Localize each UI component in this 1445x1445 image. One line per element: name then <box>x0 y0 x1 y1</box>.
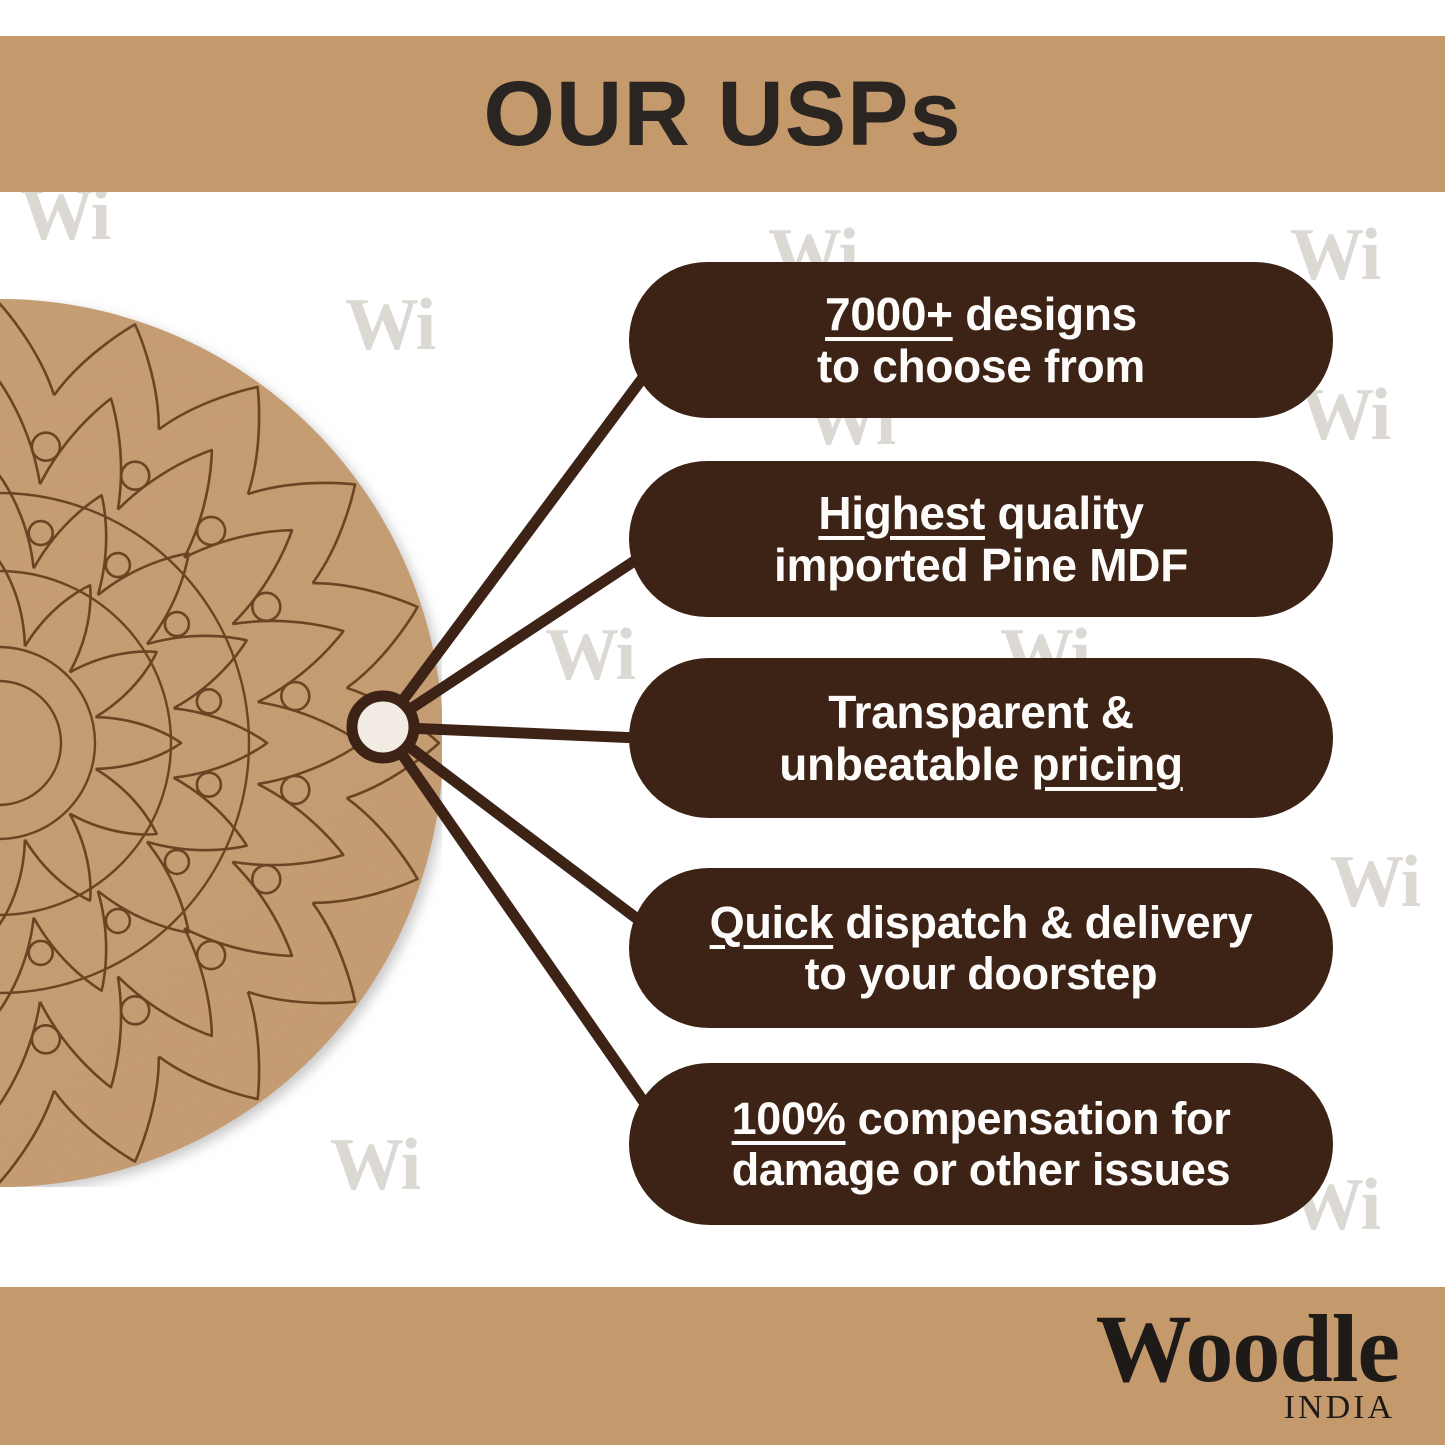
usp-line: to choose from <box>817 340 1145 392</box>
usp-text: damage or other issues <box>732 1144 1231 1195</box>
usp-line: unbeatable pricing <box>779 738 1183 790</box>
brand-logo: Woodle INDIA <box>1096 1301 1399 1425</box>
brand-name: Woodle <box>1096 1301 1399 1397</box>
usp-highlight: Highest <box>818 487 985 539</box>
usp-text: unbeatable <box>779 738 1031 790</box>
usp-text: designs <box>953 288 1137 340</box>
usp-pill-stack: 7000+ designsto choose from Highest qual… <box>0 0 1445 1445</box>
footer-band: Woodle INDIA <box>0 1287 1445 1445</box>
usp-pill-dispatch[interactable]: Quick dispatch & deliveryto your doorste… <box>629 868 1333 1028</box>
usp-highlight: Quick <box>710 897 834 948</box>
usp-text: quality <box>985 487 1144 539</box>
usp-pill-designs[interactable]: 7000+ designsto choose from <box>629 262 1333 418</box>
usp-text: compensation for <box>845 1093 1230 1144</box>
usp-text: to choose from <box>817 340 1145 392</box>
usp-line: 7000+ designs <box>825 288 1137 340</box>
header-band: OUR USPs <box>0 36 1445 192</box>
usp-pill-quality[interactable]: Highest qualityimported Pine MDF <box>629 461 1333 617</box>
usp-highlight: 7000+ <box>825 288 953 340</box>
usp-highlight: pricing <box>1032 738 1183 790</box>
usp-text: to your doorstep <box>805 948 1158 999</box>
usp-text: Transparent & <box>828 686 1133 738</box>
usp-line: damage or other issues <box>732 1144 1231 1195</box>
usp-line: 100% compensation for <box>732 1093 1231 1144</box>
usp-infographic-canvas: WiWiWiWiWiWiWiWiWiWiWiWi <box>0 0 1445 1445</box>
usp-line: Highest quality <box>818 487 1143 539</box>
usp-text: imported Pine MDF <box>774 539 1188 591</box>
usp-line: Quick dispatch & delivery <box>710 897 1253 948</box>
usp-pill-compensation[interactable]: 100% compensation fordamage or other iss… <box>629 1063 1333 1225</box>
usp-highlight: 100% <box>732 1093 846 1144</box>
usp-line: Transparent & <box>828 686 1133 738</box>
usp-line: to your doorstep <box>805 948 1158 999</box>
usp-pill-pricing[interactable]: Transparent &unbeatable pricing <box>629 658 1333 818</box>
usp-line: imported Pine MDF <box>774 539 1188 591</box>
usp-text: dispatch & delivery <box>833 897 1252 948</box>
page-title: OUR USPs <box>483 68 961 160</box>
